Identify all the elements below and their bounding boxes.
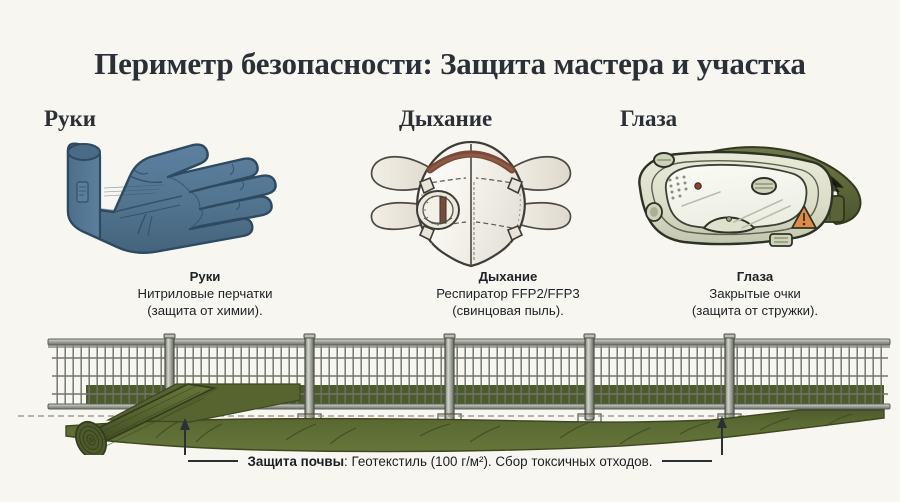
ffp-respirator-illustration [362,128,580,270]
caption-hands-title: Руки [55,268,355,285]
note-body: Геотекстиль (100 г/м²). Сбор токсичных о… [351,454,652,469]
site-perimeter-scene [0,330,900,455]
page-title: Периметр безопасности: Защита мастера и … [0,46,900,82]
caption-eyes-line2: (защита от стружки). [620,302,890,319]
caption-hands-line2: (защита от химии). [55,302,355,319]
caption-eyes: Глаза Закрытые очки (защита от стружки). [620,268,890,319]
safety-goggles-illustration [622,130,880,258]
nitrile-glove-illustration [42,126,334,272]
caption-breath-line1: Респиратор FFP2/FFP3 [358,285,658,302]
note-rule-right [662,460,712,462]
caption-eyes-title: Глаза [620,268,890,285]
soil-protection-note: Защита почвы: Геотекстиль (100 г/м²). Сб… [0,448,900,474]
note-rule-left [188,460,238,462]
caption-hands-line1: Нитриловые перчатки [55,285,355,302]
note-text: Защита почвы: Геотекстиль (100 г/м²). Сб… [248,454,653,469]
caption-eyes-line1: Закрытые очки [620,285,890,302]
note-label: Защита почвы [248,454,344,469]
infographic-canvas: Периметр безопасности: Защита мастера и … [0,0,900,502]
caption-breath: Дыхание Респиратор FFP2/FFP3 (свинцовая … [358,268,658,319]
caption-breath-line2: (свинцовая пыль). [358,302,658,319]
caption-breath-title: Дыхание [358,268,658,285]
caption-hands: Руки Нитриловые перчатки (защита от хими… [55,268,355,319]
section-heading-eyes: Глаза [620,106,677,132]
